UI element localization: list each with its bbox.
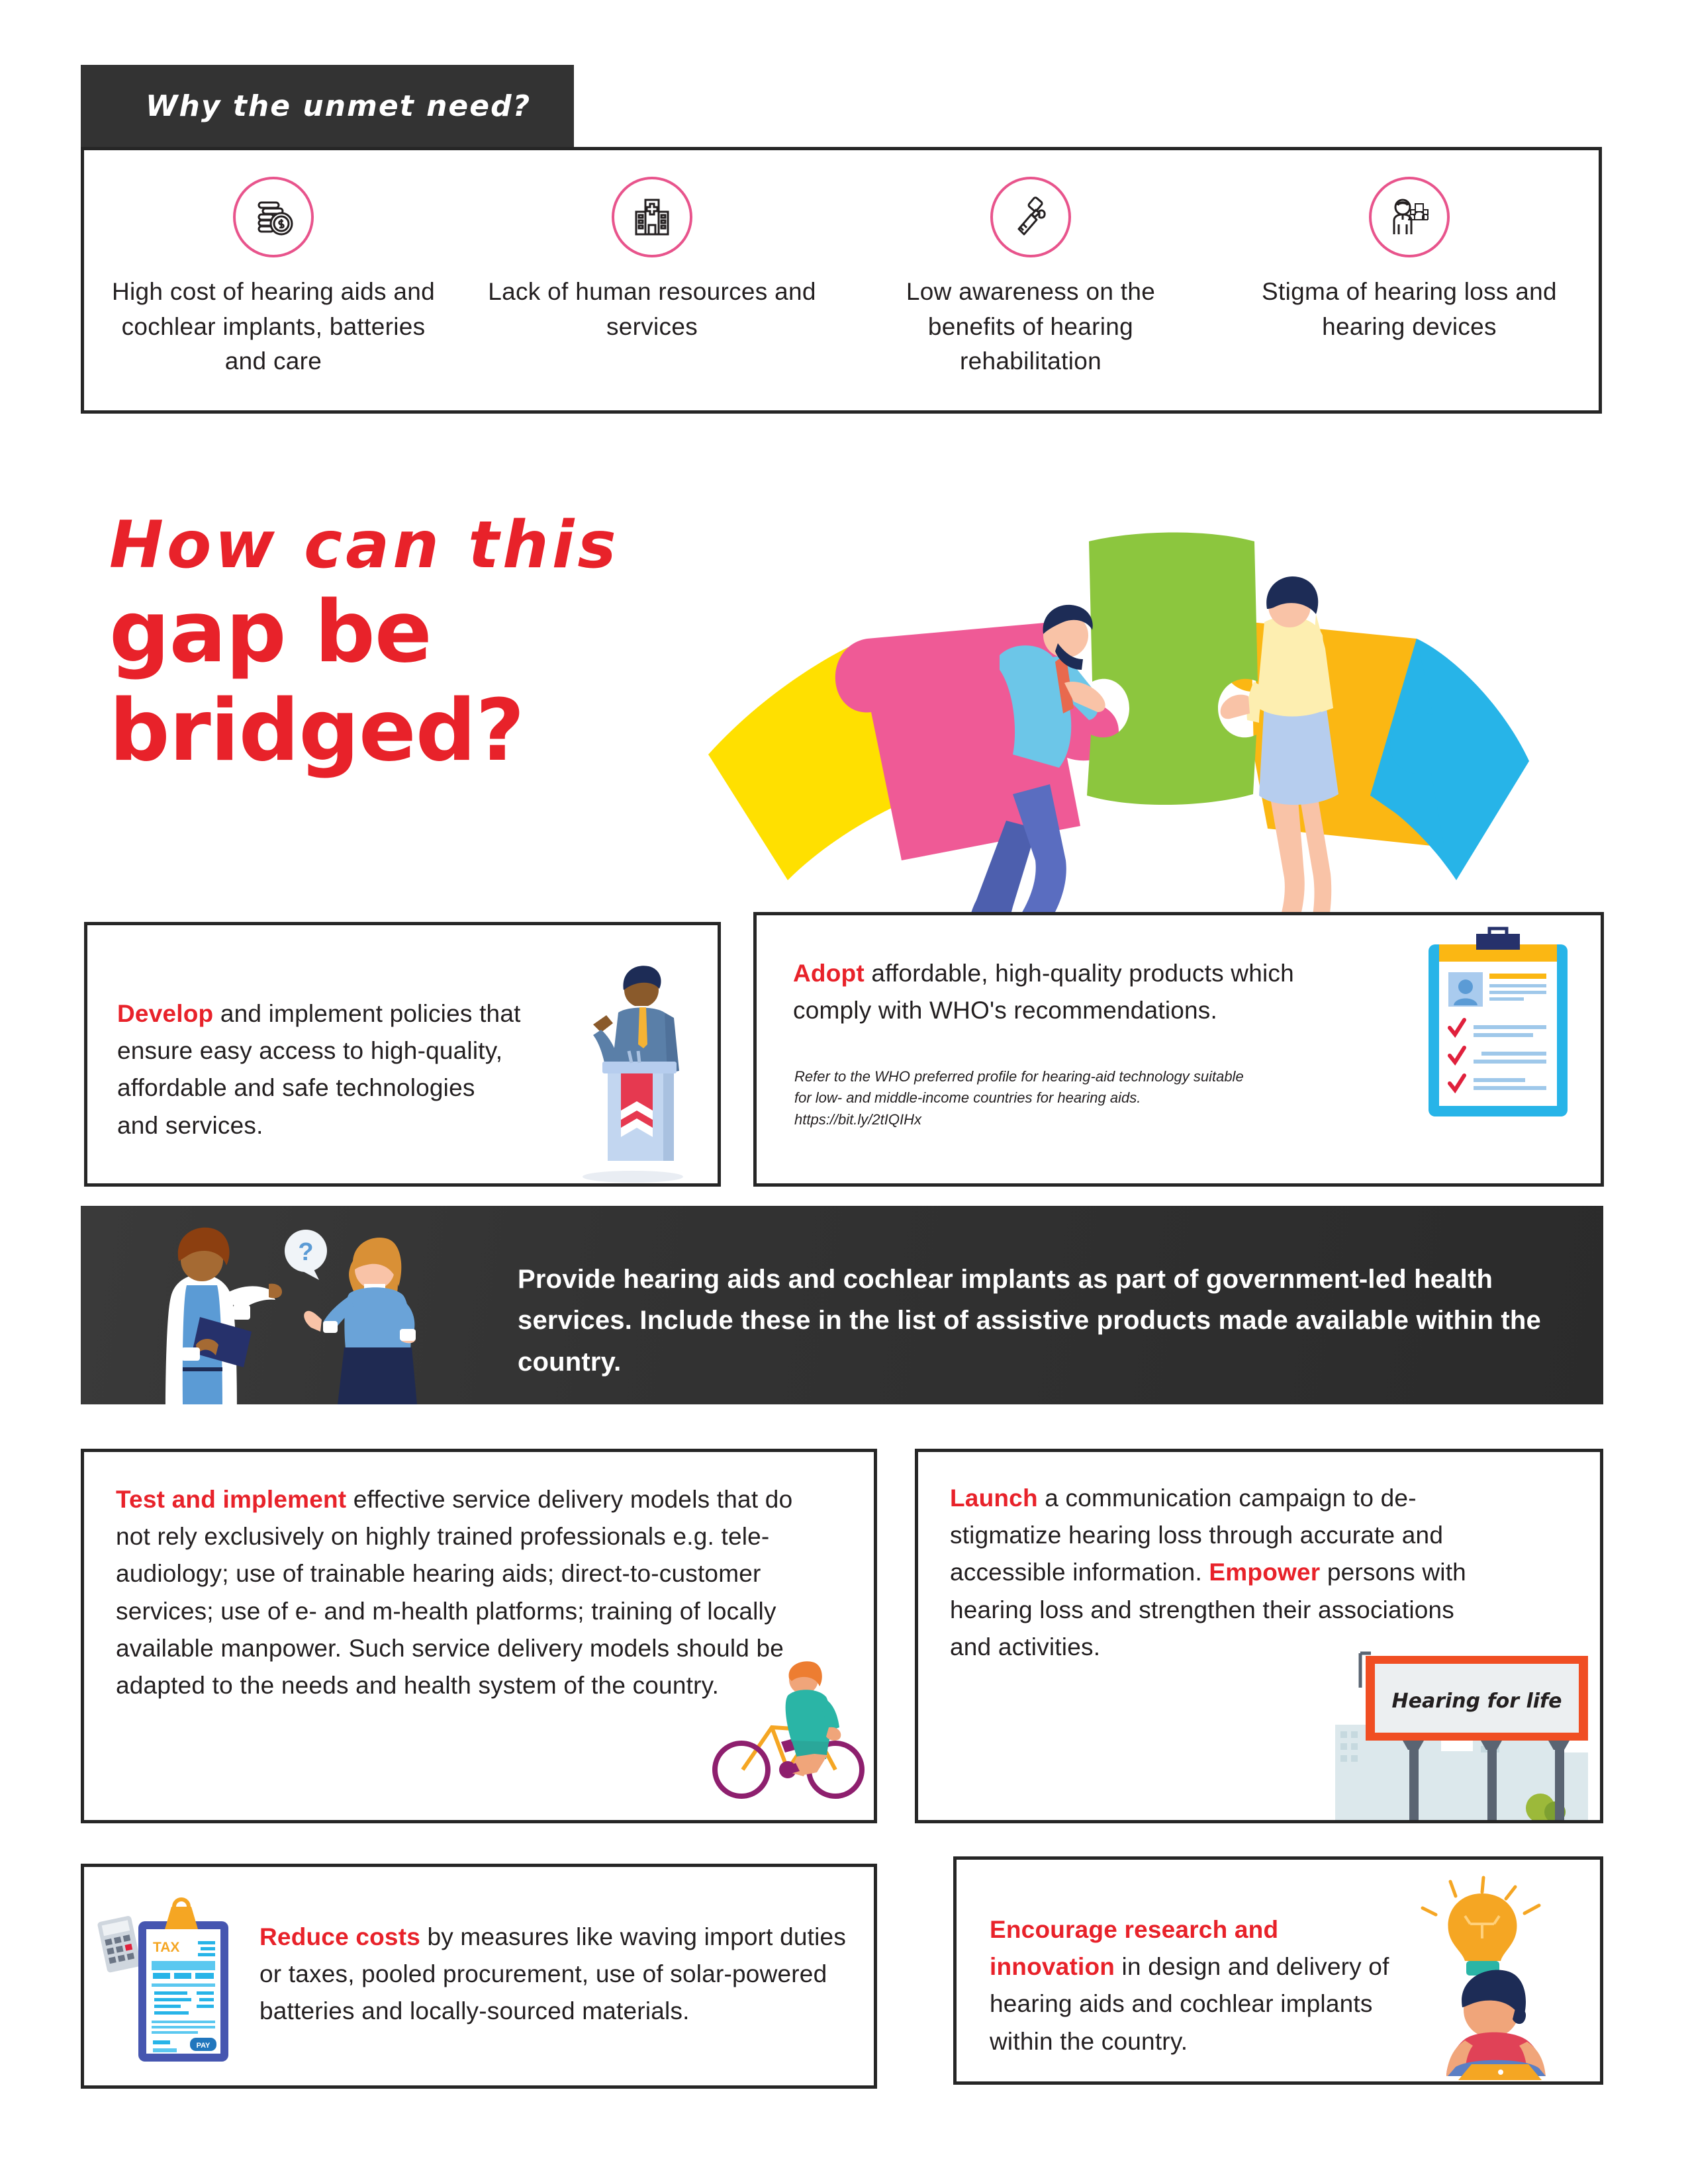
adopt-note-url[interactable]: https://bit.ly/2tIQIHx: [794, 1109, 1344, 1130]
provide-banner: ? Provide hearing aids and cochlear impl…: [81, 1206, 1603, 1404]
unmet-need-item-stigma: Stigma of hearing loss and hearing devic…: [1220, 177, 1599, 410]
unmet-need-item-cost: High cost of hearing aids and cochlear i…: [84, 177, 463, 410]
hospital-icon: [612, 177, 692, 257]
billboard-cityscape-illustration: Hearing for life: [1322, 1641, 1600, 1820]
test-implement-card-text: Test and implement effective service del…: [116, 1481, 804, 1704]
adopt-card: Adopt affordable, high-quality products …: [753, 912, 1604, 1187]
provide-banner-text: Provide hearing aids and cochlear implan…: [518, 1259, 1550, 1383]
adopt-note-line-2: for low- and middle-income countries for…: [794, 1087, 1344, 1109]
coins-money-icon: [233, 177, 314, 257]
adopt-note-line-1: Refer to the WHO preferred profile for h…: [794, 1066, 1344, 1087]
headline-script-line: How can this: [109, 513, 659, 578]
test-implement-card: Test and implement effective service del…: [81, 1449, 877, 1823]
otoscope-icon: [990, 177, 1071, 257]
person-with-lightbulb-illustration: [1392, 1878, 1591, 2076]
speaker-at-podium-illustration: [547, 952, 706, 1183]
unmet-need-tab: Why the unmet need?: [81, 65, 574, 148]
person-group-icon: [1369, 177, 1450, 257]
encourage-research-card: Encourage research and innovation in des…: [953, 1856, 1603, 2085]
adopt-card-note: Refer to the WHO preferred profile for h…: [794, 1066, 1344, 1130]
unmet-need-item-label: Lack of human resources and services: [487, 275, 818, 344]
person-on-bicycle-illustration: [703, 1653, 868, 1805]
unmet-need-item-label: Low awareness on the benefits of hearing…: [865, 275, 1196, 379]
unmet-need-item-label: High cost of hearing aids and cochlear i…: [108, 275, 439, 379]
launch-empower-card: Launch a communication campaign to de-st…: [915, 1449, 1603, 1823]
headline-bold-line-1: gap be: [109, 590, 659, 676]
unmet-need-tab-label: Why the unmet need?: [81, 89, 531, 123]
svg-text:?: ?: [298, 1238, 313, 1266]
develop-card-text: Develop and implement policies that ensu…: [117, 995, 521, 1144]
unmet-need-item-resources: Lack of human resources and services: [463, 177, 841, 410]
reduce-costs-card-lead: Reduce costs: [259, 1923, 420, 1950]
empower-card-lead: Empower: [1209, 1559, 1320, 1586]
launch-card-lead: Launch: [950, 1484, 1038, 1512]
develop-card-lead: Develop: [117, 1000, 213, 1027]
develop-card: Develop and implement policies that ensu…: [84, 922, 721, 1187]
unmet-need-item-label: Stigma of hearing loss and hearing devic…: [1244, 275, 1575, 344]
billboard-text: Hearing for life: [1392, 1690, 1562, 1713]
launch-empower-card-text: Launch a communication campaign to de-st…: [950, 1480, 1473, 1666]
reduce-costs-card: TAX: [81, 1864, 877, 2089]
doctor-and-patient-illustration: ?: [139, 1206, 430, 1404]
unmet-need-grid: High cost of hearing aids and cochlear i…: [84, 150, 1599, 410]
headline-bold-line-2: bridged?: [109, 688, 659, 775]
adopt-card-body: affordable, high-quality products which …: [793, 960, 1294, 1024]
headline-block: How can this gap be bridged?: [109, 513, 659, 774]
tax-label: TAX: [153, 1940, 179, 1955]
tax-form-calculator-illustration: TAX: [93, 1895, 252, 2073]
puzzle-bridge-illustration: [669, 424, 1542, 887]
adopt-card-lead: Adopt: [793, 960, 865, 987]
infographic-page: Why the unmet need? High cos: [0, 0, 1688, 2184]
test-implement-card-lead: Test and implement: [116, 1486, 346, 1513]
clipboard-checklist-illustration: [1418, 929, 1582, 1127]
pay-label: PAY: [197, 2042, 211, 2050]
test-implement-card-body: effective service delivery models that d…: [116, 1486, 792, 1699]
unmet-need-item-awareness: Low awareness on the benefits of hearing…: [841, 177, 1220, 410]
adopt-card-text: Adopt affordable, high-quality products …: [793, 955, 1316, 1029]
unmet-need-box: High cost of hearing aids and cochlear i…: [81, 147, 1602, 414]
reduce-costs-card-text: Reduce costs by measures like waving imp…: [259, 1919, 855, 2030]
encourage-research-card-text: Encourage research and innovation in des…: [990, 1911, 1400, 2060]
